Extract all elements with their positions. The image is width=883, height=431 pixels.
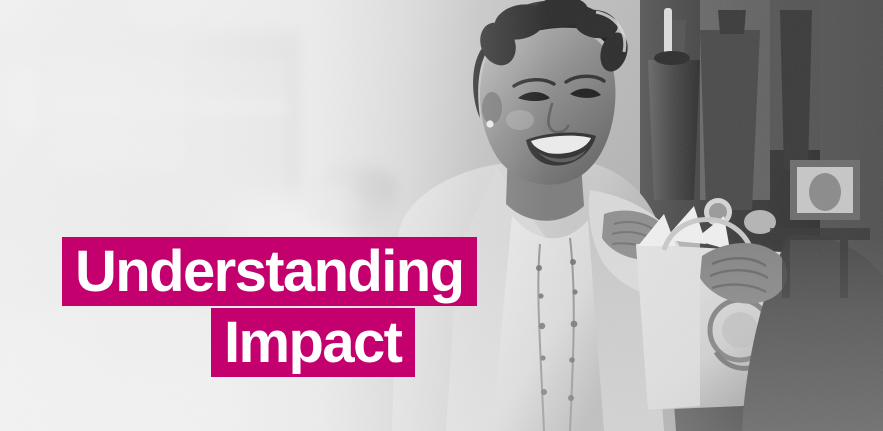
hero-banner: Understanding Impact [0,0,883,431]
headline-line-2: Impact [211,308,415,377]
headline-line-1: Understanding [62,237,477,306]
hero-photograph [0,0,883,431]
